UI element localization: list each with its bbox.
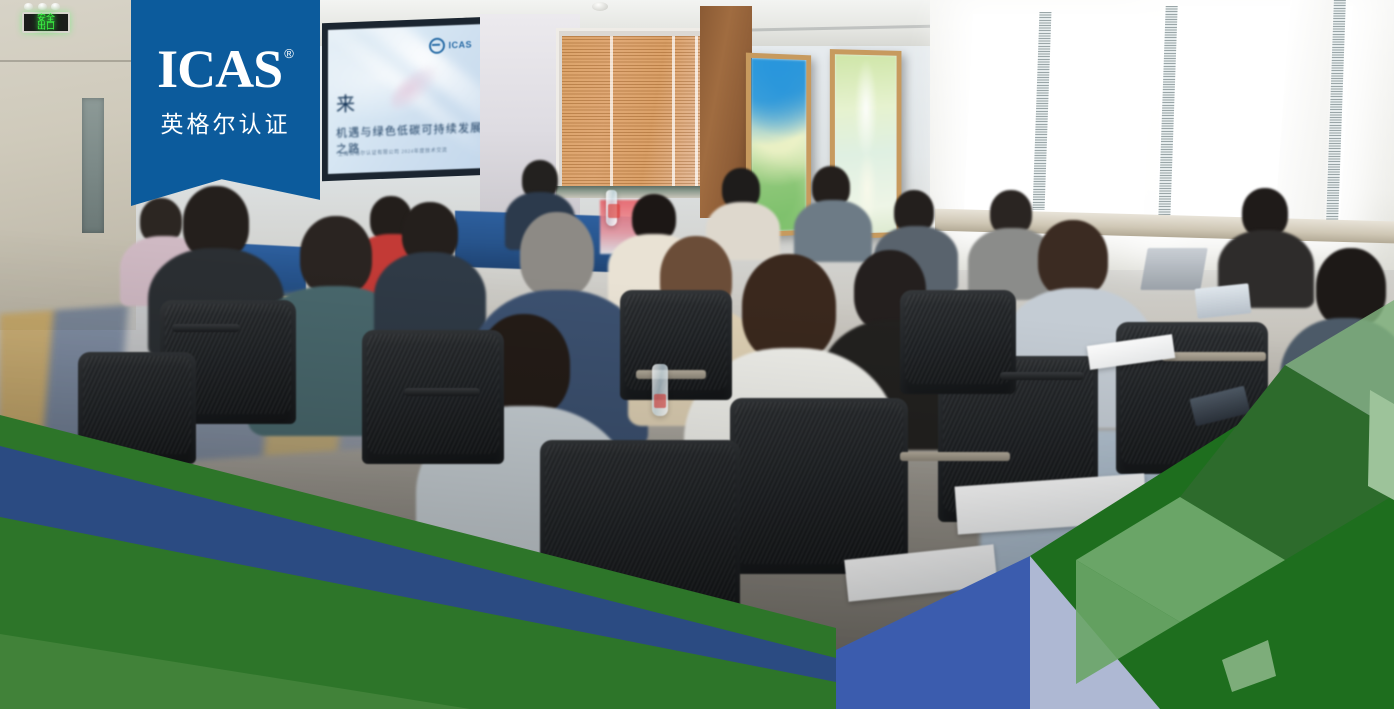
chair-mesh <box>83 356 191 454</box>
chair-mesh <box>545 444 735 610</box>
chair-mesh <box>905 294 1011 384</box>
chair-armrest <box>172 324 240 332</box>
attendee-head <box>742 254 836 362</box>
icas-wordmark: ICAS <box>157 42 282 96</box>
laptop <box>1140 248 1207 290</box>
writing-tablet <box>1162 352 1266 361</box>
registered-mark-icon: ® <box>284 46 294 61</box>
icas-chinese-name: 英格尔认证 <box>161 105 291 139</box>
writing-tablet <box>900 452 1010 461</box>
attendee-head <box>520 212 594 298</box>
water-bottle <box>652 364 668 416</box>
attendee-head <box>1038 220 1108 298</box>
attendee-head <box>300 216 372 296</box>
writing-tablet <box>636 370 706 379</box>
chair-armrest <box>1000 372 1084 380</box>
chair <box>362 330 504 464</box>
attendee-body <box>794 200 872 262</box>
chair-armrest <box>404 388 480 396</box>
chair <box>78 352 196 464</box>
banner-canvas: 安全 出口 ICAS 来 机遇与绿色低碳可持续发展之路 上海英格尔认证有限公司 … <box>0 0 1394 709</box>
attendee-body <box>1280 318 1394 444</box>
chair-mesh <box>735 402 903 564</box>
icas-wordmark-group: ICAS ® <box>157 42 294 96</box>
water-bottle <box>606 190 617 226</box>
icas-logo-banner: ICAS ® 英格尔认证 <box>131 0 320 206</box>
chair <box>900 290 1016 394</box>
chair <box>620 290 732 400</box>
attendee-head <box>1316 248 1386 328</box>
chair <box>540 440 740 620</box>
icas-logo-content: ICAS ® 英格尔认证 <box>131 0 320 206</box>
chair <box>730 398 908 574</box>
tablet-device <box>1195 283 1252 318</box>
